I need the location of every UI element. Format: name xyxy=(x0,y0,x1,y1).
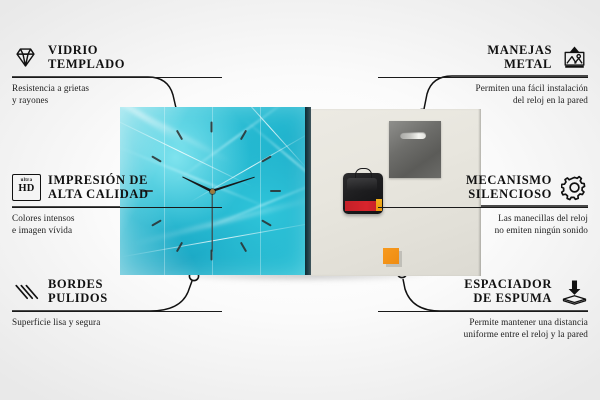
callout-title: BORDES PULIDOS xyxy=(48,277,108,305)
foam-spacer-icon xyxy=(561,278,588,305)
callout-vidrio-templado: VIDRIO TEMPLADO Resistencia a grietas y … xyxy=(12,40,222,106)
clock-tick xyxy=(261,155,272,162)
clock-tick xyxy=(270,190,281,192)
callout-subtitle: Las manecillas del reloj no emiten ningú… xyxy=(378,212,588,236)
polished-edges-icon xyxy=(12,278,39,305)
clock-tick xyxy=(176,242,183,253)
callout-rule xyxy=(378,311,588,312)
callout-title: VIDRIO TEMPLADO xyxy=(48,43,125,71)
callout-title: IMPRESIÓN DE ALTA CALIDAD xyxy=(48,173,149,201)
picture-hanger-icon xyxy=(561,44,588,71)
foam-spacer-square xyxy=(383,248,399,264)
callout-bordes-pulidos: BORDES PULIDOS Superficie lisa y segura xyxy=(12,274,222,328)
callout-title: MECANISMO SILENCIOSO xyxy=(466,173,552,201)
clock-tick xyxy=(240,242,247,253)
gear-icon xyxy=(561,174,588,201)
callout-rule xyxy=(12,311,222,312)
callout-manejas-metal: MANEJAS METAL Permiten una fácil instala… xyxy=(378,40,588,106)
callout-rule xyxy=(12,77,222,78)
ultra-hd-icon-main-text: HD xyxy=(18,184,34,195)
callout-title: MANEJAS METAL xyxy=(487,43,552,71)
callout-mecanismo-silencioso: MECANISMO SILENCIOSO Las manecillas del … xyxy=(378,170,588,236)
callout-subtitle: Permiten una fácil instalación del reloj… xyxy=(378,82,588,106)
clock-tick xyxy=(261,219,272,226)
callout-subtitle: Permite mantener una distancia uniforme … xyxy=(378,316,588,340)
callout-subtitle: Superficie lisa y segura xyxy=(12,316,222,328)
ultra-hd-icon: ultra HD xyxy=(12,174,39,201)
callout-subtitle: Resistencia a grietas y rayones xyxy=(12,82,222,106)
callout-subtitle: Colores intensos e imagen vívida xyxy=(12,212,222,236)
callout-impresion-alta-calidad: ultra HD IMPRESIÓN DE ALTA CALIDAD Color… xyxy=(12,170,222,236)
infographic-canvas: VIDRIO TEMPLADO Resistencia a grietas y … xyxy=(0,0,600,400)
callout-rule xyxy=(12,207,222,208)
clock-tick xyxy=(211,122,213,133)
callout-rule xyxy=(378,207,588,208)
callout-title: ESPACIADOR DE ESPUMA xyxy=(464,277,552,305)
hanger-slot xyxy=(400,132,426,139)
callout-rule xyxy=(378,77,588,78)
mechanism-hanging-loop xyxy=(355,168,372,178)
callout-espaciador-espuma: ESPACIADOR DE ESPUMA Permite mantener un… xyxy=(378,274,588,340)
diamond-icon xyxy=(12,44,39,71)
